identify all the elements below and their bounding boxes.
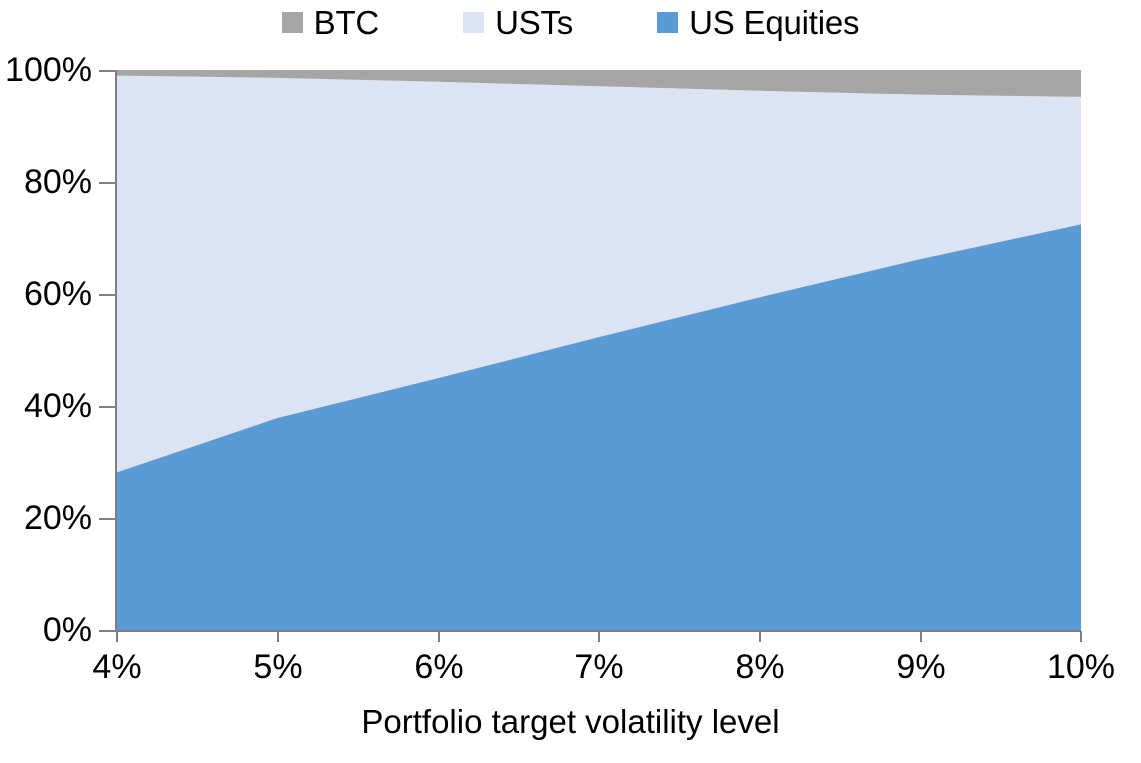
y-tick-mark-0 — [99, 630, 116, 632]
y-tick-label-100: 100% — [0, 53, 92, 87]
x-tick-label-8: 8% — [700, 650, 820, 684]
y-tick-label-0: 0% — [0, 613, 92, 647]
legend-item-btc: BTC — [282, 6, 379, 39]
y-axis-line — [115, 70, 117, 632]
x-tick-label-10: 10% — [1021, 650, 1141, 684]
legend-swatch-usts — [463, 12, 484, 33]
x-tick-mark-5 — [277, 631, 279, 642]
legend-label-usts: USTs — [495, 6, 573, 39]
x-tick-mark-8 — [759, 631, 761, 642]
area-series-svg — [117, 70, 1081, 631]
legend-swatch-us-equities — [657, 12, 678, 33]
y-tick-mark-80 — [99, 182, 116, 184]
legend-label-btc: BTC — [314, 6, 379, 39]
x-axis-title: Portfolio target volatility level — [0, 705, 1141, 738]
x-tick-label-7: 7% — [539, 650, 659, 684]
x-tick-mark-10 — [1080, 631, 1082, 642]
legend-item-usts: USTs — [463, 6, 573, 39]
y-tick-label-80: 80% — [0, 165, 92, 199]
plot-area — [117, 70, 1081, 631]
y-tick-mark-20 — [99, 518, 116, 520]
x-tick-label-5: 5% — [218, 650, 338, 684]
x-tick-mark-4 — [116, 631, 118, 642]
y-tick-label-40: 40% — [0, 389, 92, 423]
x-tick-mark-7 — [598, 631, 600, 642]
legend-swatch-btc — [282, 12, 303, 33]
x-tick-label-9: 9% — [861, 650, 981, 684]
chart-legend: BTC USTs US Equities — [0, 6, 1141, 39]
stacked-area-chart: BTC USTs US Equities 100% 80% 60% 40% 20… — [0, 0, 1141, 763]
y-tick-mark-100 — [99, 70, 116, 72]
legend-item-us-equities: US Equities — [657, 6, 859, 39]
y-tick-label-20: 20% — [0, 501, 92, 535]
y-tick-label-60: 60% — [0, 277, 92, 311]
legend-label-us-equities: US Equities — [689, 6, 859, 39]
y-tick-mark-60 — [99, 294, 116, 296]
x-tick-mark-6 — [438, 631, 440, 642]
y-tick-mark-40 — [99, 406, 116, 408]
x-tick-label-6: 6% — [379, 650, 499, 684]
x-tick-label-4: 4% — [57, 650, 177, 684]
x-tick-mark-9 — [920, 631, 922, 642]
